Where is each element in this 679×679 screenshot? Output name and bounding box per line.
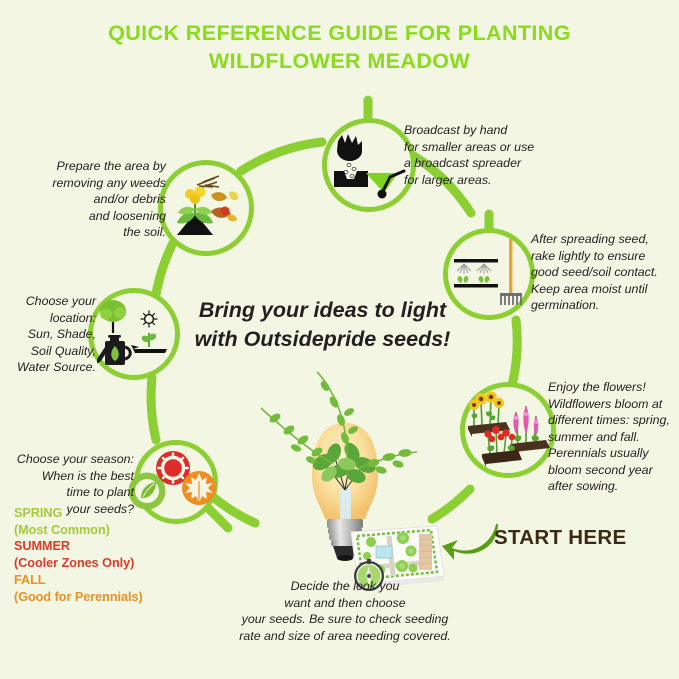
step-caption-broadcast: Broadcast by hand for smaller areas or u… bbox=[404, 122, 579, 188]
season-legend-spring-note: (Most Common) bbox=[14, 522, 194, 539]
ring-arc-decide-season bbox=[213, 497, 255, 523]
center-tagline: Bring your ideas to light with Outsidepr… bbox=[170, 296, 475, 354]
title-line-1: QUICK REFERENCE GUIDE FOR PLANTING bbox=[108, 21, 571, 45]
season-badge-fall bbox=[182, 471, 216, 505]
season-legend: SPRING (Most Common) SUMMER (Cooler Zone… bbox=[14, 505, 194, 605]
weeds-debris-icon bbox=[169, 173, 243, 243]
ring-arc-location-prepare bbox=[155, 243, 173, 300]
step-caption-rake: After spreading seed, rake lightly to en… bbox=[531, 231, 679, 314]
step-caption-prepare: Prepare the area by removing any weeds a… bbox=[36, 158, 166, 241]
step-node-broadcast[interactable] bbox=[322, 118, 416, 212]
season-legend-spring-name: SPRING bbox=[14, 505, 194, 522]
step-caption-bloom: Enjoy the flowers! Wildflowers bloom at … bbox=[548, 379, 679, 495]
ring-arc-season-location bbox=[151, 378, 156, 440]
infographic-canvas: QUICK REFERENCE GUIDE FOR PLANTING WILDF… bbox=[0, 0, 679, 679]
season-legend-summer-note: (Cooler Zones Only) bbox=[14, 555, 194, 572]
season-badge-spring bbox=[130, 474, 164, 508]
season-badges-icon bbox=[137, 451, 215, 513]
page-title: QUICK REFERENCE GUIDE FOR PLANTING WILDF… bbox=[0, 20, 679, 75]
step-node-prepare[interactable] bbox=[158, 160, 254, 256]
season-legend-fall-note: (Good for Perennials) bbox=[14, 589, 194, 606]
hand-seeding-spreader-icon bbox=[332, 131, 406, 199]
tree-sun-wateringcan-icon bbox=[97, 299, 171, 369]
flower-beds-icon bbox=[466, 390, 550, 470]
season-legend-summer-name: SUMMER bbox=[14, 538, 194, 555]
season-legend-fall-name: FALL bbox=[14, 572, 194, 589]
step-caption-location: Choose your location: Sun, Shade, Soil Q… bbox=[4, 293, 96, 376]
step-caption-decide: Decide the look you want and then choose… bbox=[200, 578, 490, 644]
title-line-2: WILDFLOWER MEADOW bbox=[0, 48, 679, 76]
step-node-bloom[interactable] bbox=[460, 382, 556, 478]
ring-arc-bloom-decide bbox=[432, 489, 470, 519]
start-here-arrow-icon bbox=[440, 518, 500, 568]
ring-arc-prepare-broadcast bbox=[241, 142, 322, 171]
step-node-location[interactable] bbox=[88, 288, 180, 380]
start-here-label: START HERE bbox=[494, 526, 626, 550]
